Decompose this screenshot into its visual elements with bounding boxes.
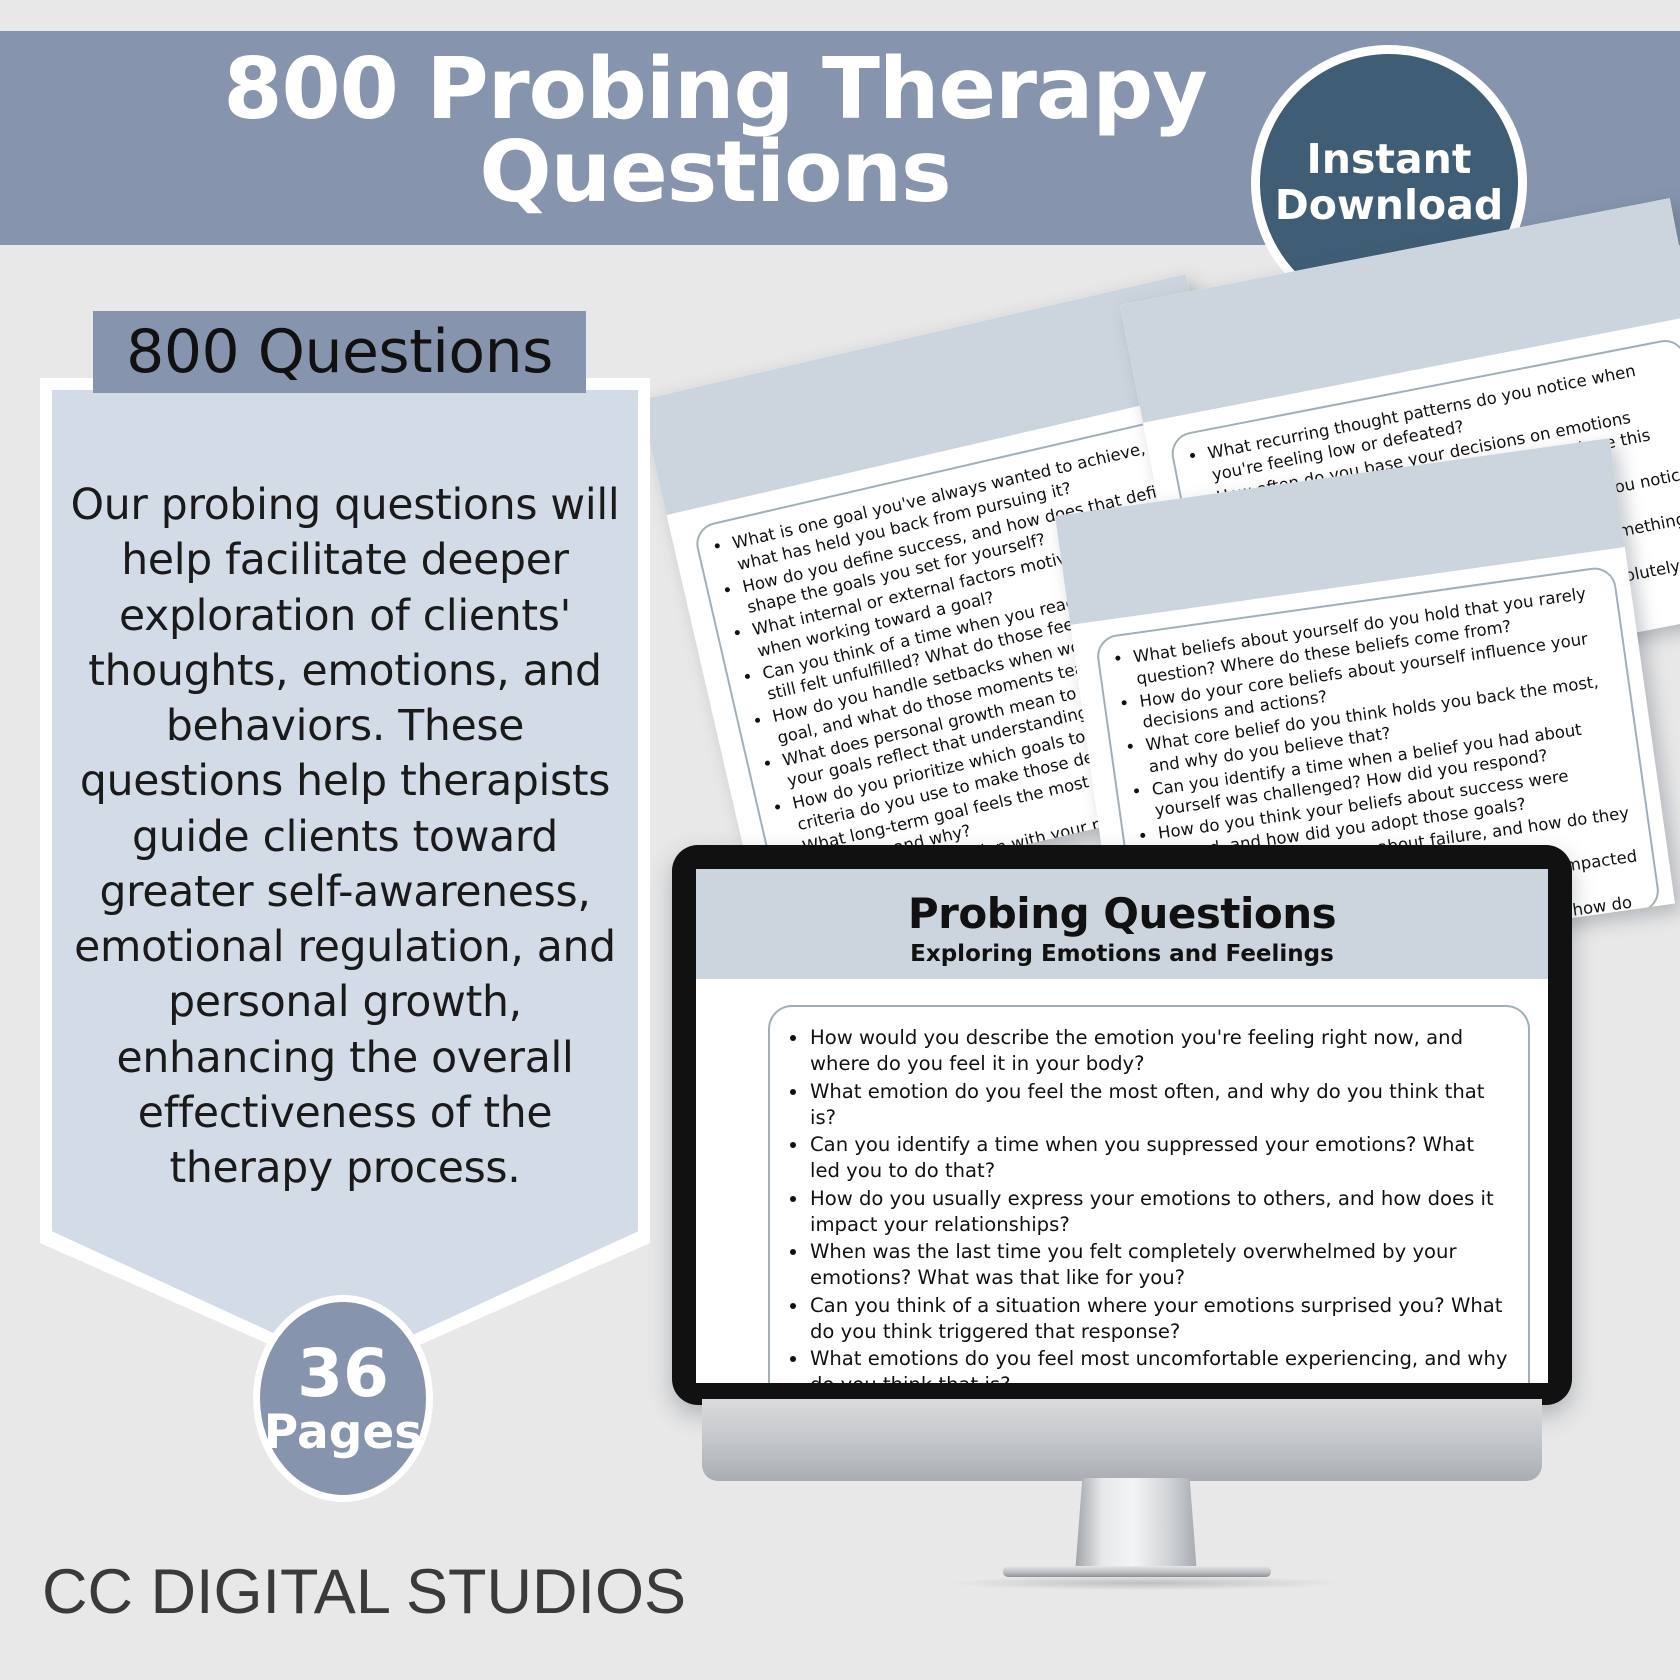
question-item: Can you think of a situation where your … xyxy=(810,1293,1510,1346)
panel-heading: 800 Questions xyxy=(93,311,586,393)
monitor-shadow xyxy=(950,1576,1340,1590)
monitor-mockup: Probing Questions Exploring Emotions and… xyxy=(672,845,1572,1405)
question-item: What emotions do you feel most uncomfort… xyxy=(810,1346,1510,1383)
page-count-number: 36 xyxy=(297,1341,389,1407)
question-item: When was the last time you felt complete… xyxy=(810,1239,1510,1292)
monitor-chin xyxy=(702,1399,1542,1481)
question-item: How do you usually express your emotions… xyxy=(810,1186,1510,1239)
screen-question-list: How would you describe the emotion you'r… xyxy=(770,1007,1528,1383)
listing-graphic: 800 Probing Therapy Questions Instant Do… xyxy=(0,0,1680,1680)
monitor-screen: Probing Questions Exploring Emotions and… xyxy=(696,869,1548,1383)
question-item: Can you identify a time when you suppres… xyxy=(810,1132,1510,1185)
page-title: 800 Probing Therapy Questions xyxy=(160,48,1270,215)
page-count-label: Pages xyxy=(264,1409,422,1456)
screen-question-box: How would you describe the emotion you'r… xyxy=(768,1005,1530,1383)
brand-name: CC DIGITAL STUDIOS xyxy=(42,1556,686,1628)
screen-subtitle: Exploring Emotions and Feelings xyxy=(696,941,1548,967)
page-count-badge: 36 Pages xyxy=(253,1295,433,1502)
monitor-stand-neck xyxy=(1075,1478,1197,1574)
question-item: What emotion do you feel the most often,… xyxy=(810,1079,1510,1132)
question-item: How would you describe the emotion you'r… xyxy=(810,1025,1510,1078)
screen-title: Probing Questions xyxy=(696,889,1548,938)
panel-description: Our probing questions will help facilita… xyxy=(62,478,628,1196)
instant-download-label: Instant Download xyxy=(1275,137,1504,229)
